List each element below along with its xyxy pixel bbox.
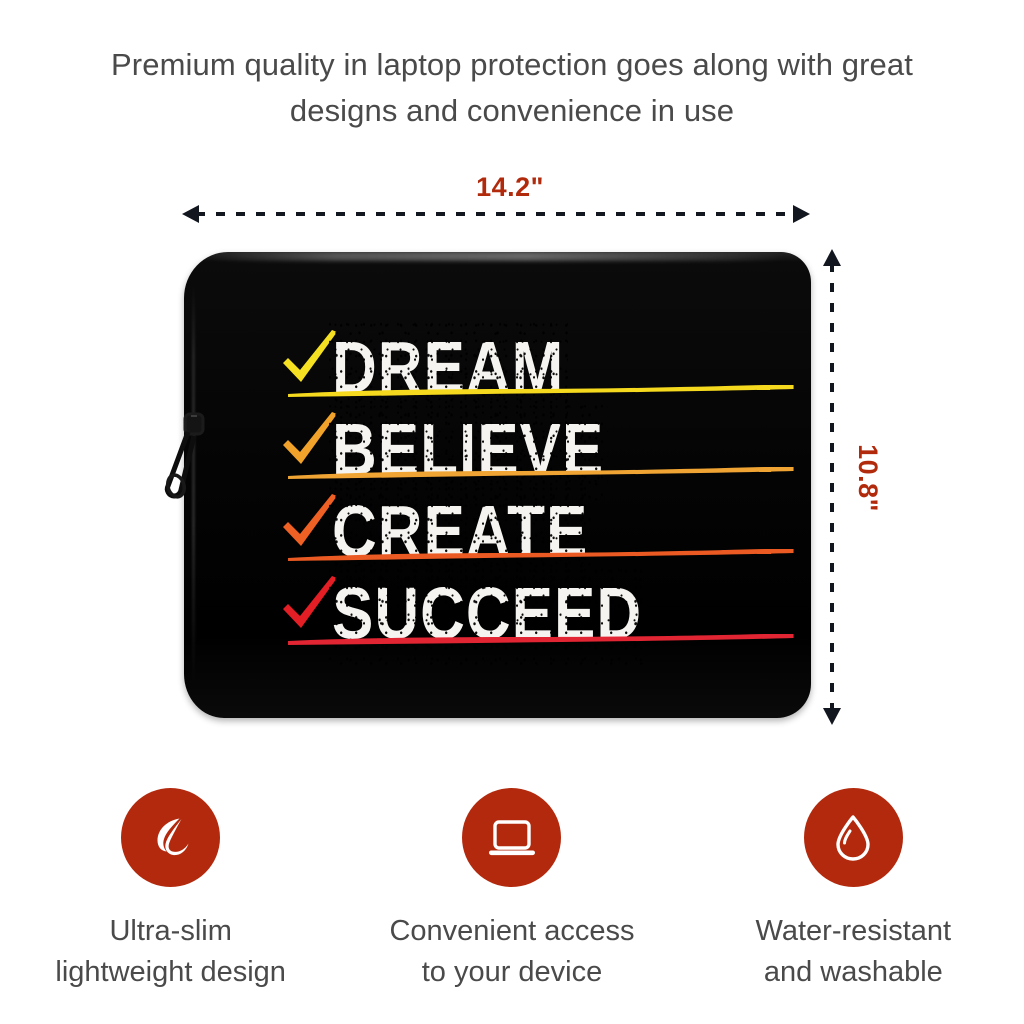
caption-line-1: Water-resistant — [756, 911, 952, 952]
headline: Premium quality in laptop protection goe… — [0, 42, 1024, 134]
feature-list: Ultra-slim lightweight design Convenient… — [0, 788, 1024, 993]
feature-caption: Ultra-slim lightweight design — [55, 911, 286, 993]
caption-line-2: lightweight design — [55, 952, 286, 993]
underline-stroke — [286, 548, 796, 561]
feature-item-water-resistant: Water-resistant and washable — [683, 788, 1024, 993]
laptop-icon — [483, 809, 541, 867]
feature-badge — [121, 788, 220, 887]
caption-line-2: and washable — [756, 952, 952, 993]
headline-line-2: designs and convenience in use — [0, 88, 1024, 134]
width-dimension-label: 14.2" — [380, 172, 640, 203]
dashed-line — [196, 212, 796, 216]
artwork-line: CREATE — [280, 488, 800, 570]
arrow-down-icon — [823, 708, 841, 725]
product-image-laptop-sleeve: DREAM BELIEVE — [184, 252, 811, 718]
artwork-line: DREAM — [280, 324, 800, 406]
artwork-word: CREATE — [332, 488, 588, 578]
feather-icon — [143, 810, 199, 866]
underline-stroke — [286, 632, 796, 645]
arrow-right-icon — [793, 205, 810, 223]
width-dimension-line — [182, 211, 810, 216]
artwork-word: DREAM — [332, 324, 564, 414]
headline-line-1: Premium quality in laptop protection goe… — [0, 42, 1024, 88]
feature-caption: Water-resistant and washable — [756, 911, 952, 993]
underline-stroke — [286, 384, 796, 397]
feature-badge — [462, 788, 561, 887]
artwork-line: SUCCEED — [280, 570, 800, 652]
artwork-word: BELIEVE — [332, 406, 604, 496]
caption-line-2: to your device — [389, 952, 634, 993]
feature-item-ultra-slim: Ultra-slim lightweight design — [0, 788, 341, 993]
feature-caption: Convenient access to your device — [389, 911, 634, 993]
caption-line-1: Ultra-slim — [55, 911, 286, 952]
artwork-word: SUCCEED — [332, 570, 642, 660]
sleeve-artwork: DREAM BELIEVE — [280, 324, 800, 654]
underline-stroke — [286, 466, 796, 479]
height-dimension-line — [829, 249, 834, 725]
feature-item-convenient-access: Convenient access to your device — [341, 788, 682, 993]
artwork-line: BELIEVE — [280, 406, 800, 488]
height-dimension-label: 10.8" — [852, 418, 883, 538]
sleeve-body: DREAM BELIEVE — [184, 252, 811, 718]
caption-line-1: Convenient access — [389, 911, 634, 952]
feature-badge — [804, 788, 903, 887]
water-drop-icon — [826, 809, 880, 867]
dashed-line — [830, 263, 834, 711]
